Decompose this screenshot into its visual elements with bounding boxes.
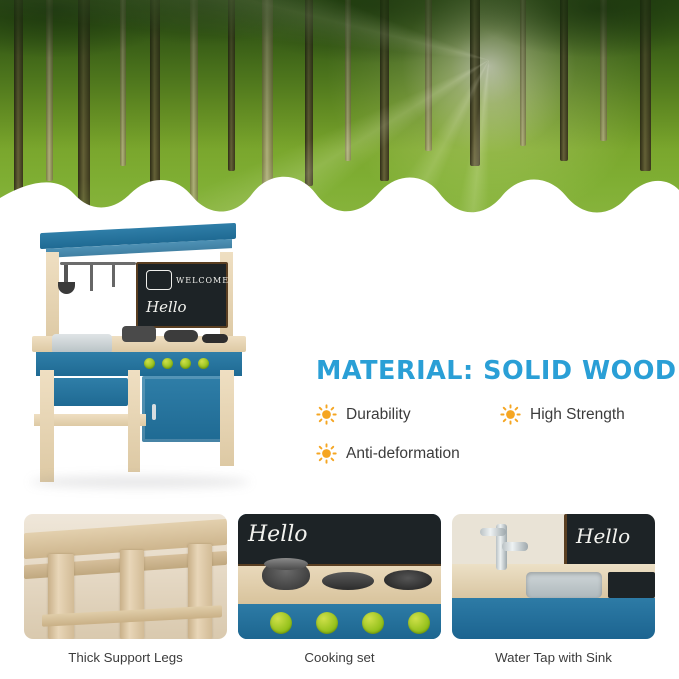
thumbnail-image: Hello	[238, 514, 441, 639]
support-leg	[188, 544, 212, 639]
hanging-pan	[58, 282, 75, 294]
thumbnail-caption: Cooking set	[238, 650, 441, 665]
chalkboard-text-hello: Hello	[248, 522, 308, 547]
thumbnail-caption: Thick Support Legs	[24, 650, 227, 665]
feature-label: Anti-deformation	[346, 445, 460, 463]
feature-item-high-strength: High Strength	[500, 404, 625, 425]
control-knob	[316, 612, 338, 634]
pot-lid	[264, 558, 308, 570]
feature-label: High Strength	[530, 406, 625, 424]
control-knob	[144, 358, 155, 369]
product-shadow	[30, 476, 250, 488]
utensil-rail	[60, 262, 136, 265]
control-knob	[270, 612, 292, 634]
product-image-mud-kitchen: WELCOME Hello	[24, 218, 314, 508]
feature-row: Durability	[316, 404, 668, 425]
feature-label: Durability	[346, 406, 411, 424]
page-title: MATERIAL: SOLID WOOD	[316, 356, 666, 386]
storage-bin	[42, 378, 128, 406]
chalkboard-text-hello: Hello	[576, 524, 630, 548]
frying-pan	[322, 572, 374, 590]
burner	[202, 334, 228, 343]
sun-icon	[316, 404, 337, 425]
thumbnail-thick-support-legs: Thick Support Legs	[24, 514, 227, 665]
thumbnail-image: Hello	[452, 514, 655, 639]
control-knob	[408, 612, 430, 634]
kitchen-body	[452, 598, 655, 639]
control-knob	[162, 358, 173, 369]
product-infographic-page: WELCOME Hello MATERIAL: SOLID WOOD	[0, 0, 679, 679]
sink-basin	[52, 334, 112, 354]
hanging-utensil	[112, 265, 115, 287]
cabinet-handle	[152, 404, 156, 420]
thumbnail-row: Thick Support Legs Hello Cooking set	[24, 514, 656, 665]
feature-row: Anti-deformation	[316, 443, 668, 464]
support-leg	[40, 370, 54, 482]
tap-spout	[502, 542, 528, 551]
thumbnail-caption: Water Tap with Sink	[452, 650, 655, 665]
support-leg	[220, 370, 234, 466]
feature-item-anti-deformation: Anti-deformation	[316, 443, 460, 464]
sink-basin	[526, 572, 602, 598]
thumbnail-cooking-set: Hello Cooking set	[238, 514, 441, 665]
sun-icon	[500, 404, 521, 425]
cooking-pot	[122, 326, 156, 342]
chalkboard-text-hello: Hello	[146, 298, 187, 316]
support-leg	[48, 554, 74, 639]
control-knob	[198, 358, 209, 369]
feature-list: Durability	[316, 404, 668, 482]
control-knob	[180, 358, 191, 369]
control-knob	[362, 612, 384, 634]
sun-icon	[316, 443, 337, 464]
hanging-utensil	[90, 265, 93, 291]
frying-pan	[164, 330, 198, 342]
roof-post-left	[46, 252, 59, 344]
tap-handle	[480, 528, 506, 536]
chalkboard-doodle	[146, 270, 172, 290]
support-leg	[128, 370, 140, 472]
chalkboard-text-welcome: WELCOME	[176, 276, 229, 285]
cooktop-edge	[608, 572, 655, 598]
support-leg	[120, 550, 144, 639]
thumbnail-image	[24, 514, 227, 639]
burner	[384, 570, 432, 590]
thumbnail-water-tap-with-sink: Hello Water Tap with Sink	[452, 514, 655, 665]
feature-item-durability: Durability	[316, 404, 500, 425]
